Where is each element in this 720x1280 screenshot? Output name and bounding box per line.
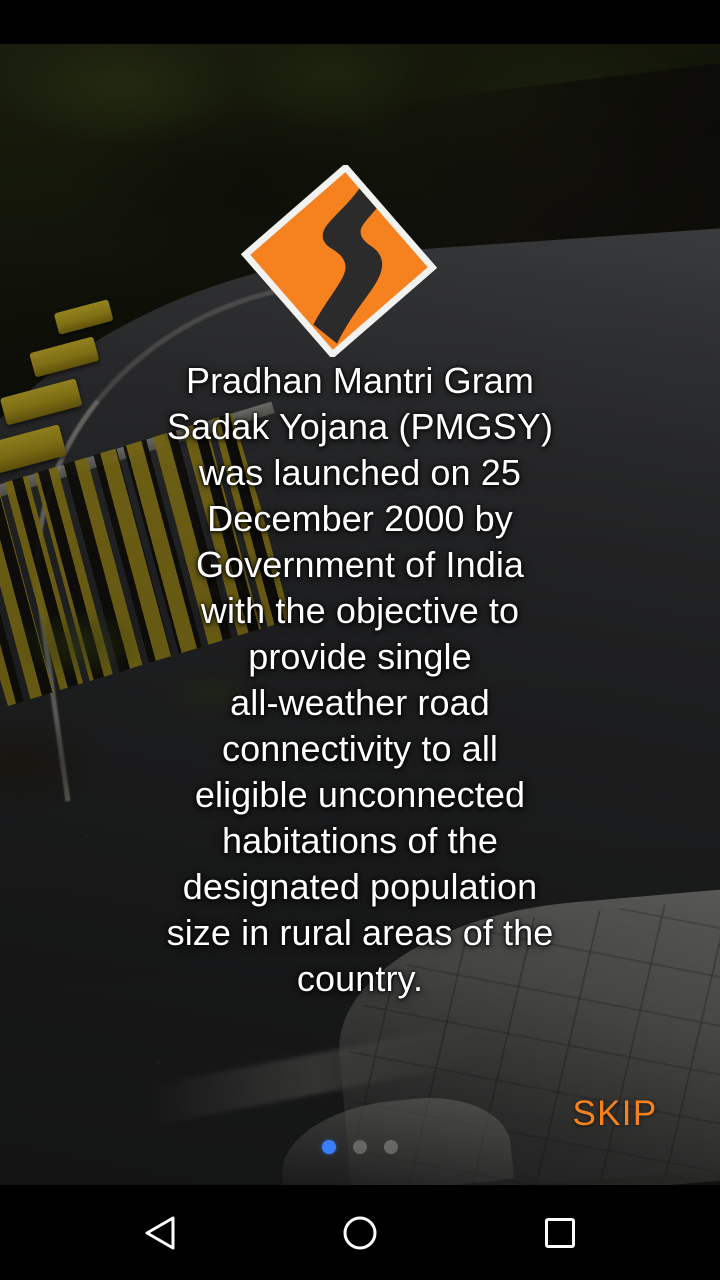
android-navigation-bar (0, 1185, 720, 1280)
nav-recents-button[interactable] (480, 1185, 640, 1280)
app-screen: Pradhan Mantri Gram Sadak Yojana (PMGSY)… (0, 0, 720, 1280)
home-circle-icon (341, 1214, 379, 1252)
status-bar (0, 0, 720, 44)
skip-button[interactable]: SKIP (540, 1084, 690, 1144)
nav-home-button[interactable] (280, 1185, 440, 1280)
pmgsy-road-diamond-logo-icon (241, 165, 437, 357)
page-dot-1[interactable] (322, 1140, 336, 1154)
back-triangle-icon (143, 1215, 177, 1251)
recents-square-icon (543, 1216, 577, 1250)
onboarding-slide[interactable]: Pradhan Mantri Gram Sadak Yojana (PMGSY)… (0, 44, 720, 1185)
page-dot-2[interactable] (353, 1140, 367, 1154)
nav-back-button[interactable] (80, 1185, 240, 1280)
onboarding-description-text: Pradhan Mantri Gram Sadak Yojana (PMGSY)… (50, 358, 670, 1002)
page-dot-3[interactable] (384, 1140, 398, 1154)
